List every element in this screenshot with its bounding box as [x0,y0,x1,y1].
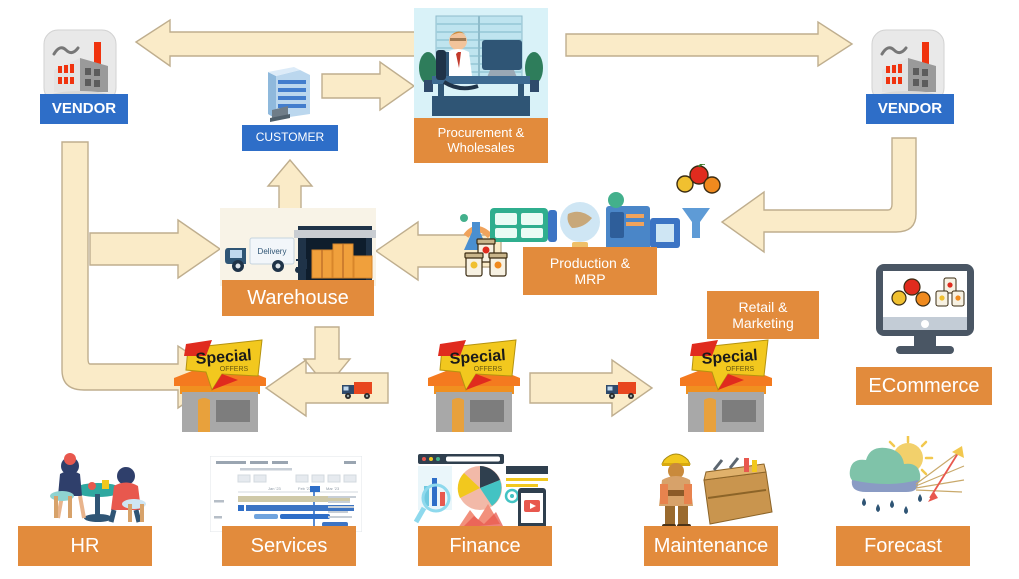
node-label-maintenance[interactable]: Maintenance [644,526,778,566]
svg-text:OFFERS: OFFERS [726,366,755,373]
procurement-label-line2: Wholesales [447,141,514,156]
node-label-customer[interactable]: CUSTOMER [242,125,338,151]
svg-text:OFFERS: OFFERS [474,366,503,373]
node-label-production[interactable]: Production & MRP [523,247,657,295]
gantt-chart-icon: Jan '23Feb '23Mar '23 [210,456,362,532]
retail-label-line1: Retail & [738,299,787,315]
arrow-vendor-left-to-warehouse [90,220,220,278]
node-label-forecast[interactable]: Forecast [836,526,970,566]
svg-text:Feb '23: Feb '23 [298,486,312,491]
warehouse-delivery-icon: Delivery [220,208,376,286]
svg-text:Delivery: Delivery [258,247,287,256]
storefront-special-offers-icon: Special OFFERS [672,334,780,432]
node-label-procurement[interactable]: Procurement & Wholesales [414,118,548,163]
monitor-shop-icon [866,258,984,368]
arrow-vendor-right-down-to-production [720,136,940,256]
storefront-special-offers-icon: Special OFFERS [420,334,528,432]
arrow-procurement-to-vendor-left [136,18,416,66]
fruit-basket-icon [676,164,722,194]
jam-jars-icon [464,236,514,278]
svg-text:Mar '23: Mar '23 [326,486,340,491]
analytics-dashboard-icon [414,452,550,532]
node-label-finance[interactable]: Finance [418,526,552,566]
svg-text:Jan '23: Jan '23 [268,486,282,491]
node-label-retail[interactable]: Retail & Marketing [707,291,819,339]
node-label-hr[interactable]: HR [18,526,152,566]
erp-process-flow-diagram: Delivery [0,0,1019,579]
production-label-line2: MRP [574,271,605,287]
production-label-line1: Production & [550,255,630,271]
svg-text:OFFERS: OFFERS [220,366,249,373]
storefront-special-offers-icon: Special OFFERS [166,334,274,432]
office-worker-icon [414,8,548,120]
node-label-vendor-left[interactable]: VENDOR [40,94,128,124]
server-rack-icon [266,66,314,122]
delivery-truck-icon [604,378,640,400]
delivery-truck-icon [340,378,376,400]
node-label-warehouse[interactable]: Warehouse [222,280,374,316]
node-label-services[interactable]: Services [222,526,356,566]
arrow-top-to-vendor-right [566,22,852,66]
people-meeting-icon [36,446,154,526]
node-label-vendor-right[interactable]: VENDOR [866,94,954,124]
node-label-ecommerce[interactable]: ECommerce [856,367,992,405]
retail-label-line2: Marketing [732,315,793,331]
procurement-label-line1: Procurement & [438,126,525,141]
weather-forecast-icon [834,436,970,528]
arrow-customer-to-procurement [322,62,414,110]
worker-toolbox-icon [648,444,774,528]
